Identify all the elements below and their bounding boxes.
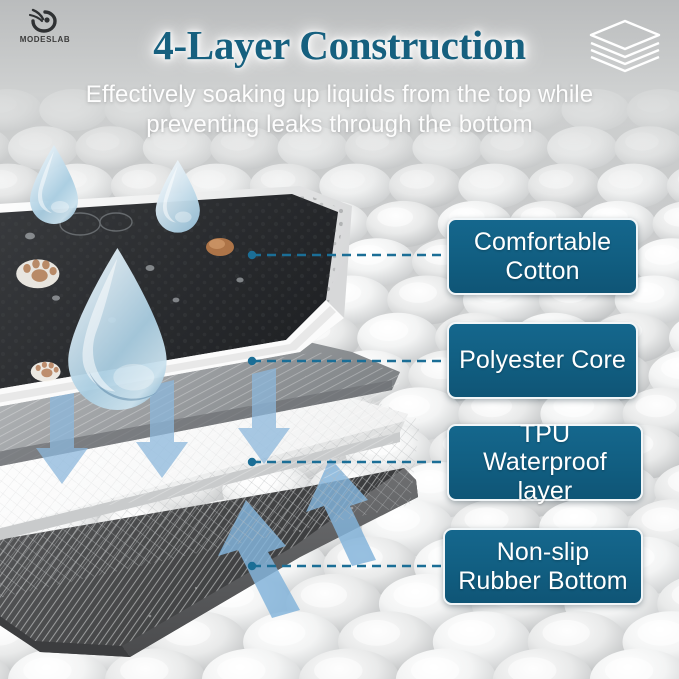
callout-label-non-slip-rubber-bottom[interactable]: Non-slip Rubber Bottom <box>443 528 643 605</box>
infographic-canvas: MODESLAB 4-Layer Construction Effectivel… <box>0 0 679 679</box>
callout-label-text: Non-slip Rubber Bottom <box>455 538 631 595</box>
callout-label-text: Polyester Core <box>459 346 626 374</box>
callout-label-tpu-waterproof-layer[interactable]: TPU Waterproof layer <box>447 424 643 501</box>
callout-label-text: TPU Waterproof layer <box>459 420 631 505</box>
callout-label-polyester-core[interactable]: Polyester Core <box>447 322 638 399</box>
callout-label-comfortable-cotton[interactable]: Comfortable Cotton <box>447 218 638 295</box>
callout-label-text: Comfortable Cotton <box>459 228 626 285</box>
